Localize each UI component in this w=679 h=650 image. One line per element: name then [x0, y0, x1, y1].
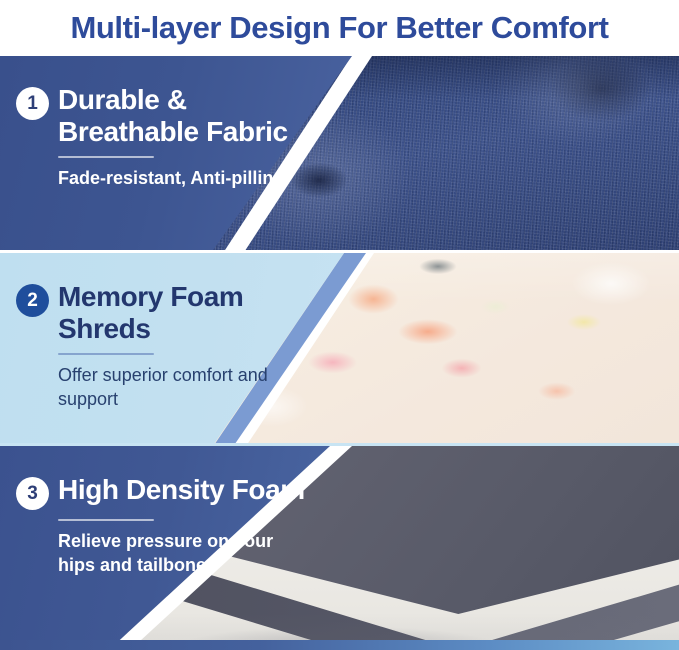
step-badge-3: 3 — [16, 477, 49, 510]
section-rule-1 — [0, 250, 679, 253]
bottom-accent-band — [0, 640, 679, 650]
feature-subtitle-1: Fade-resistant, Anti-pilling — [58, 167, 306, 191]
title-bar: Multi-layer Design For Better Comfort — [0, 0, 679, 56]
heading-row-2: 2 Memory Foam Shreds — [16, 281, 306, 344]
feature-section-1: 1 Durable & Breathable Fabric Fade-resis… — [0, 56, 679, 250]
panel-content-1: 1 Durable & Breathable Fabric Fade-resis… — [16, 84, 306, 191]
feature-section-3: 3 High Density Foam Relieve pressure on … — [0, 446, 679, 650]
infographic-root: Multi-layer Design For Better Comfort 1 … — [0, 0, 679, 650]
step-badge-1: 1 — [16, 87, 49, 120]
heading-row-3: 3 High Density Foam — [16, 474, 306, 510]
heading-divider-1 — [58, 156, 154, 158]
panel-content-2: 2 Memory Foam Shreds Offer superior comf… — [16, 281, 306, 412]
feature-heading-3: High Density Foam — [58, 474, 305, 506]
feature-heading-1: Durable & Breathable Fabric — [58, 84, 306, 147]
heading-divider-2 — [58, 353, 154, 355]
feature-subtitle-2: Offer superior comfort and support — [58, 364, 306, 412]
heading-divider-3 — [58, 519, 154, 521]
feature-heading-2: Memory Foam Shreds — [58, 281, 306, 344]
feature-section-2: 2 Memory Foam Shreds Offer superior comf… — [0, 253, 679, 445]
feature-subtitle-3: Relieve pressure on your hips and tailbo… — [58, 530, 306, 578]
section-rule-2 — [0, 443, 679, 446]
heading-row-1: 1 Durable & Breathable Fabric — [16, 84, 306, 147]
step-badge-2: 2 — [16, 284, 49, 317]
panel-content-3: 3 High Density Foam Relieve pressure on … — [16, 474, 306, 578]
page-title: Multi-layer Design For Better Comfort — [70, 10, 608, 46]
